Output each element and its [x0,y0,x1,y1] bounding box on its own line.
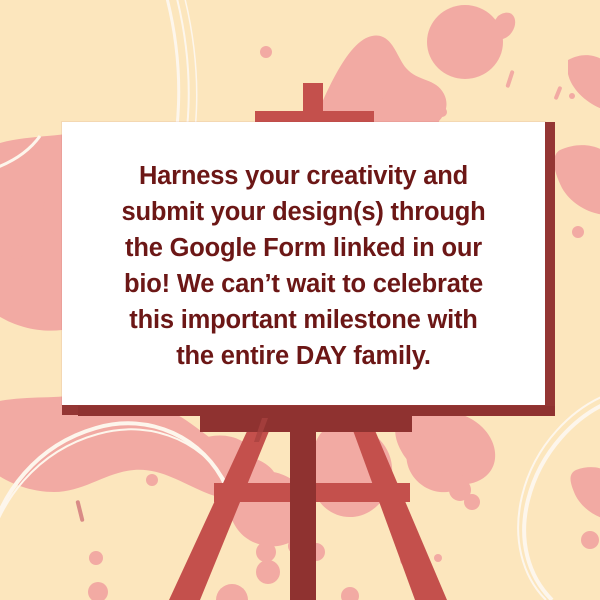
message-line-2: submit your design(s) through [122,194,486,230]
easel-left-leg [169,414,276,600]
message-line-6: the entire DAY family. [176,338,430,374]
message-line-1: Harness your creativity and [139,158,468,194]
announcement-text-block: Harness your creativity and submit your … [62,122,545,405]
canvas-board-ledge [78,406,555,416]
message-line-4: bio! We can’t wait to celebrate [124,266,483,302]
poster-image: Harness your creativity and submit your … [0,0,600,600]
canvas-board-face: Harness your creativity and submit your … [62,122,545,405]
easel-right-leg [347,414,447,600]
message-line-5: this important milestone with [129,302,477,338]
message-line-3: the Google Form linked in our [125,230,482,266]
canvas-board: Harness your creativity and submit your … [62,122,555,415]
easel-center-post [290,414,316,600]
